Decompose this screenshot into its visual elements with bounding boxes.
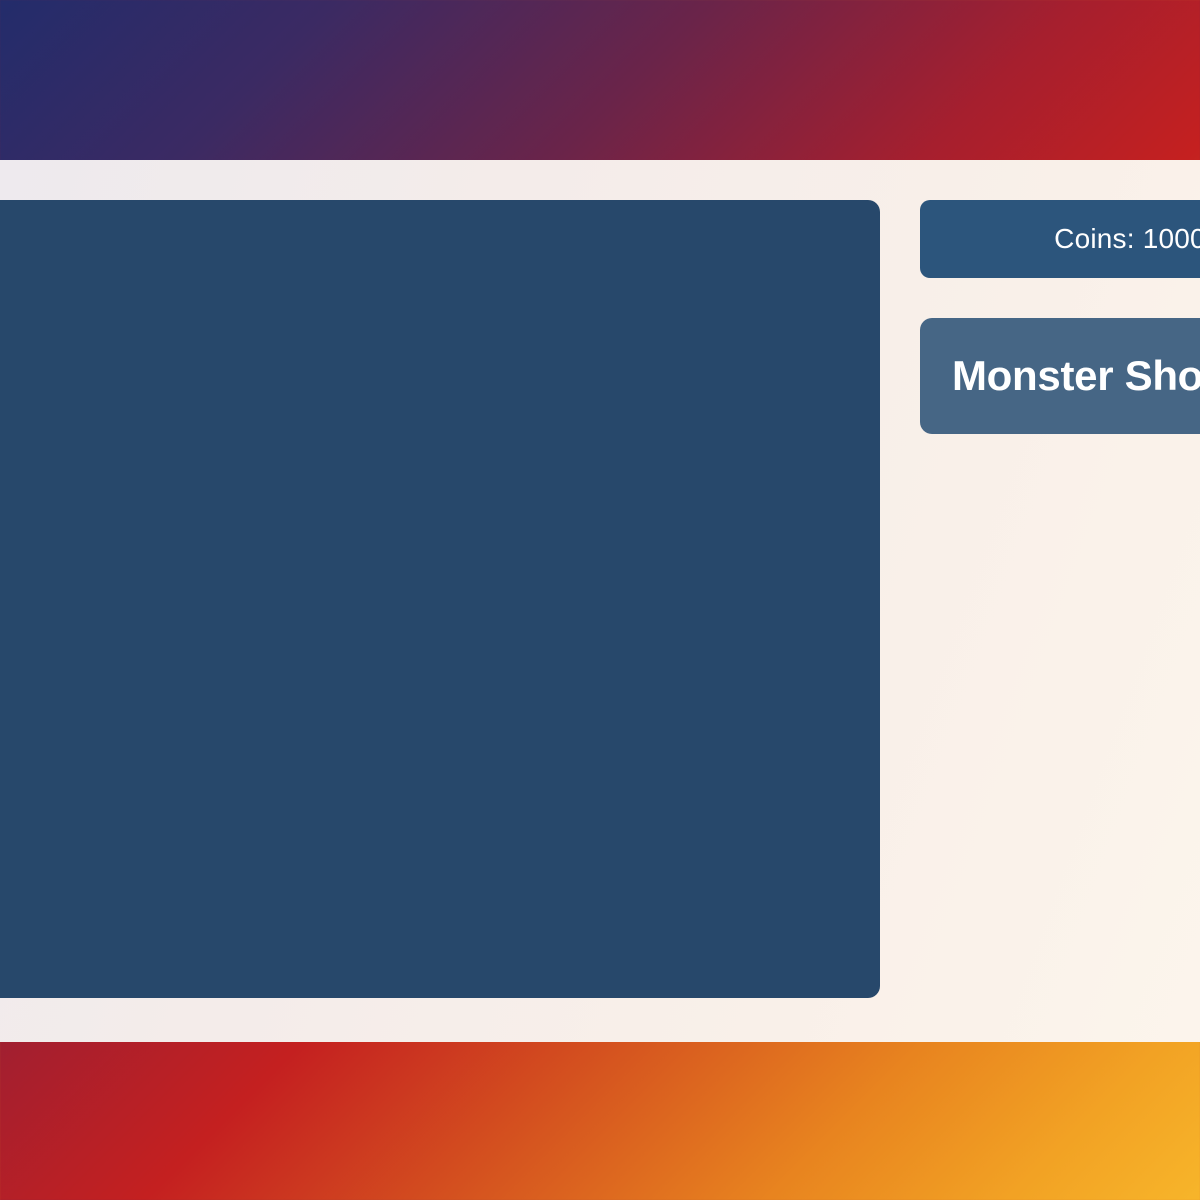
game-layout: Coins: 1000 Monster Shop xyxy=(0,160,1200,1042)
sidebar: Coins: 1000 Monster Shop xyxy=(920,200,1200,474)
monster-shop-title: Monster Shop xyxy=(952,355,1200,397)
monster-shop-header: Monster Shop xyxy=(920,318,1200,434)
game-page: { "theme": { "background_gradient_start"… xyxy=(0,0,1200,1200)
game-canvas[interactable] xyxy=(0,200,880,998)
coins-panel: Coins: 1000 xyxy=(920,200,1200,278)
page-card: Coins: 1000 Monster Shop xyxy=(0,160,1200,1042)
coins-label: Coins: 1000 xyxy=(1054,225,1200,253)
